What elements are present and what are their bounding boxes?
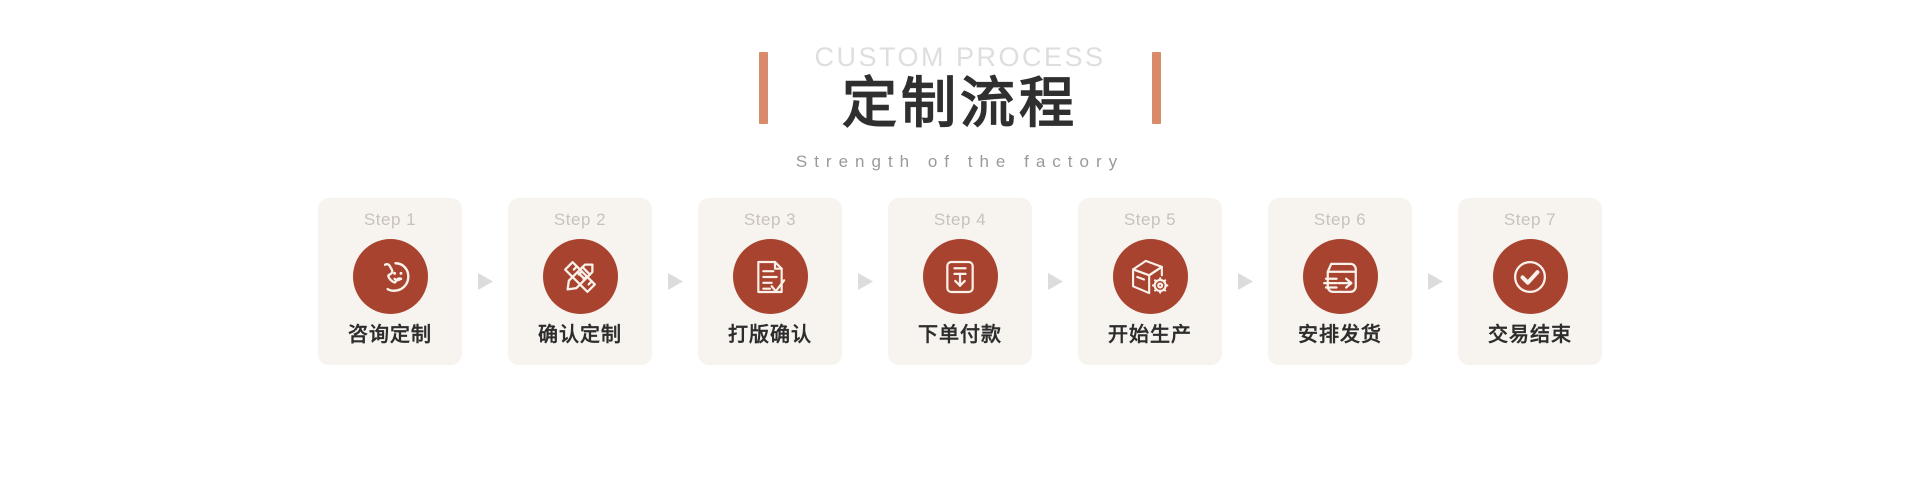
process-steps-list: Step 1 咨询定制 Step 2 <box>318 198 1602 365</box>
arrow-right-triangle-icon <box>477 272 494 291</box>
step-title: 开始生产 <box>1108 325 1192 345</box>
step-card-7[interactable]: Step 7 交易结束 <box>1458 198 1602 365</box>
step-icon-circle <box>1493 239 1568 314</box>
box-gear-icon <box>1128 255 1172 299</box>
step-title: 安排发货 <box>1298 325 1382 345</box>
step-icon-circle <box>923 239 998 314</box>
phone-smile-icon <box>368 255 412 299</box>
step-card-2[interactable]: Step 2 <box>508 198 652 365</box>
step-number-label: Step 7 <box>1504 211 1556 228</box>
arrow-right-triangle-icon <box>1427 272 1444 291</box>
step-separator-3 <box>842 272 888 291</box>
arrow-right-triangle-icon <box>1047 272 1064 291</box>
section-subtitle: Strength of the factory <box>796 152 1124 172</box>
step-card-1[interactable]: Step 1 咨询定制 <box>318 198 462 365</box>
page-title: 定制流程 <box>842 75 1078 133</box>
step-title: 打版确认 <box>728 325 812 345</box>
step-number-label: Step 1 <box>364 211 416 228</box>
step-title: 交易结束 <box>1488 325 1572 345</box>
step-title: 确认定制 <box>538 325 622 345</box>
arrow-right-triangle-icon <box>1237 272 1254 291</box>
step-separator-6 <box>1412 272 1458 291</box>
step-separator-5 <box>1222 272 1268 291</box>
step-separator-1 <box>462 272 508 291</box>
step-icon-circle <box>353 239 428 314</box>
shipping-arrow-icon <box>1319 256 1361 298</box>
step-icon-circle <box>543 239 618 314</box>
step-card-6[interactable]: Step 6 安排发货 <box>1268 198 1412 365</box>
step-icon-circle <box>733 239 808 314</box>
step-icon-circle <box>1303 239 1378 314</box>
document-check-icon <box>750 257 790 297</box>
section-eyebrow: CUSTOM PROCESS <box>814 44 1105 71</box>
title-block: CUSTOM PROCESS 定制流程 <box>814 44 1105 133</box>
check-circle-icon <box>1509 256 1551 298</box>
step-separator-2 <box>652 272 698 291</box>
pencil-ruler-icon <box>559 256 601 298</box>
step-card-3[interactable]: Step 3 打版确认 <box>698 198 842 365</box>
step-number-label: Step 5 <box>1124 211 1176 228</box>
custom-process-section: CUSTOM PROCESS 定制流程 Strength of the fact… <box>0 0 1920 498</box>
step-number-label: Step 4 <box>934 211 986 228</box>
arrow-right-triangle-icon <box>667 272 684 291</box>
accent-bar-right-icon <box>1152 52 1161 124</box>
step-icon-circle <box>1113 239 1188 314</box>
arrow-right-triangle-icon <box>857 272 874 291</box>
step-separator-4 <box>1032 272 1078 291</box>
step-number-label: Step 6 <box>1314 211 1366 228</box>
step-title: 咨询定制 <box>348 325 432 345</box>
step-number-label: Step 3 <box>744 211 796 228</box>
download-order-icon <box>941 258 979 296</box>
step-number-label: Step 2 <box>554 211 606 228</box>
step-card-5[interactable]: Step 5 开始生 <box>1078 198 1222 365</box>
accent-bar-left-icon <box>759 52 768 124</box>
section-header: CUSTOM PROCESS 定制流程 <box>759 38 1160 138</box>
step-card-4[interactable]: Step 4 下单付款 <box>888 198 1032 365</box>
step-title: 下单付款 <box>918 325 1002 345</box>
